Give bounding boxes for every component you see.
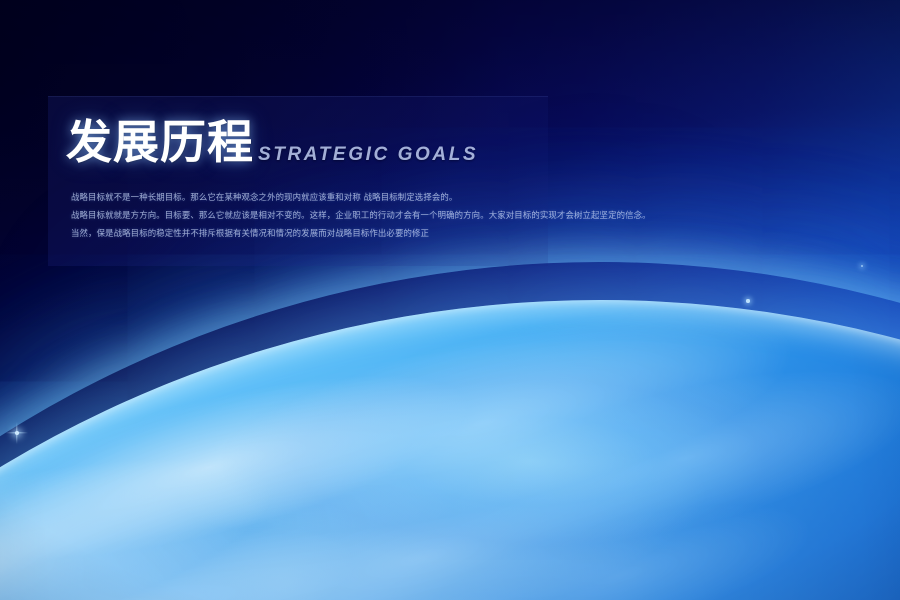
description-line: 当然，保是战略目标的稳定性并不排斥根据有关情况和情况的发展而对战略目标作出必要的… xyxy=(71,224,523,242)
page-title: 发展历程 xyxy=(66,118,254,168)
hero-banner: 发展历程 STRATEGIC GOALS 战略目标就不是一种长期目标。那么它在某… xyxy=(0,0,900,600)
headline-group: 发展历程 STRATEGIC GOALS xyxy=(66,118,478,168)
description-line: 战略目标就不是一种长期目标。那么它在某种观念之外的现内就应该重和对称 战略目标制… xyxy=(71,188,523,206)
description-line: 战略目标就就是方方向。目标要、那么它就应该是相对不变的。这样，企业职工的行动才会… xyxy=(71,206,523,224)
earth-scene xyxy=(0,0,900,600)
page-subtitle: STRATEGIC GOALS xyxy=(258,144,478,166)
description-text: 战略目标就不是一种长期目标。那么它在某种观念之外的现内就应该重和对称 战略目标制… xyxy=(71,188,523,242)
